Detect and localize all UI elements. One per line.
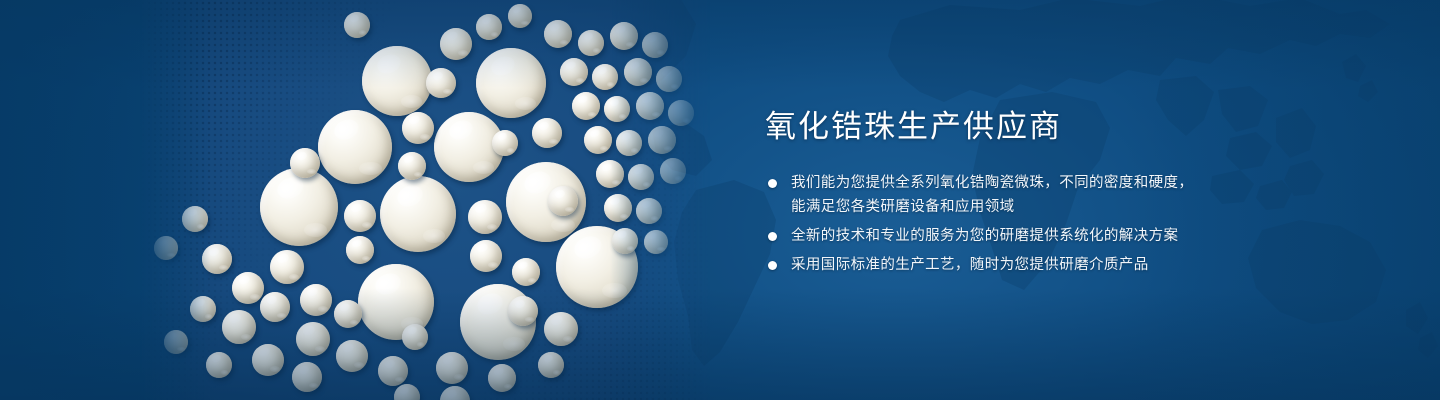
feature-list: 我们能为您提供全系列氧化锆陶瓷微珠，不同的密度和硬度， 能满足您各类研磨设备和应… <box>765 171 1325 277</box>
list-item: 采用国际标准的生产工艺，随时为您提供研磨介质产品 <box>765 253 1325 277</box>
list-item-line: 我们能为您提供全系列氧化锆陶瓷微珠，不同的密度和硬度， <box>791 171 1325 195</box>
page-title: 氧化锆珠生产供应商 <box>765 108 1325 145</box>
list-item-line: 采用国际标准的生产工艺，随时为您提供研磨介质产品 <box>791 253 1325 277</box>
list-item-line: 全新的技术和专业的服务为您的研磨提供系统化的解决方案 <box>791 224 1325 248</box>
banner-text-column: 氧化锆珠生产供应商 我们能为您提供全系列氧化锆陶瓷微珠，不同的密度和硬度， 能满… <box>765 108 1325 282</box>
list-item: 我们能为您提供全系列氧化锆陶瓷微珠，不同的密度和硬度， 能满足您各类研磨设备和应… <box>765 171 1325 219</box>
list-item: 全新的技术和专业的服务为您的研磨提供系统化的解决方案 <box>765 224 1325 248</box>
bullet-dot-icon <box>768 261 777 270</box>
bullet-dot-icon <box>768 179 777 188</box>
hero-banner: 氧化锆珠生产供应商 我们能为您提供全系列氧化锆陶瓷微珠，不同的密度和硬度， 能满… <box>0 0 1440 400</box>
bullet-dot-icon <box>768 232 777 241</box>
list-item-line: 能满足您各类研磨设备和应用领域 <box>791 195 1325 219</box>
